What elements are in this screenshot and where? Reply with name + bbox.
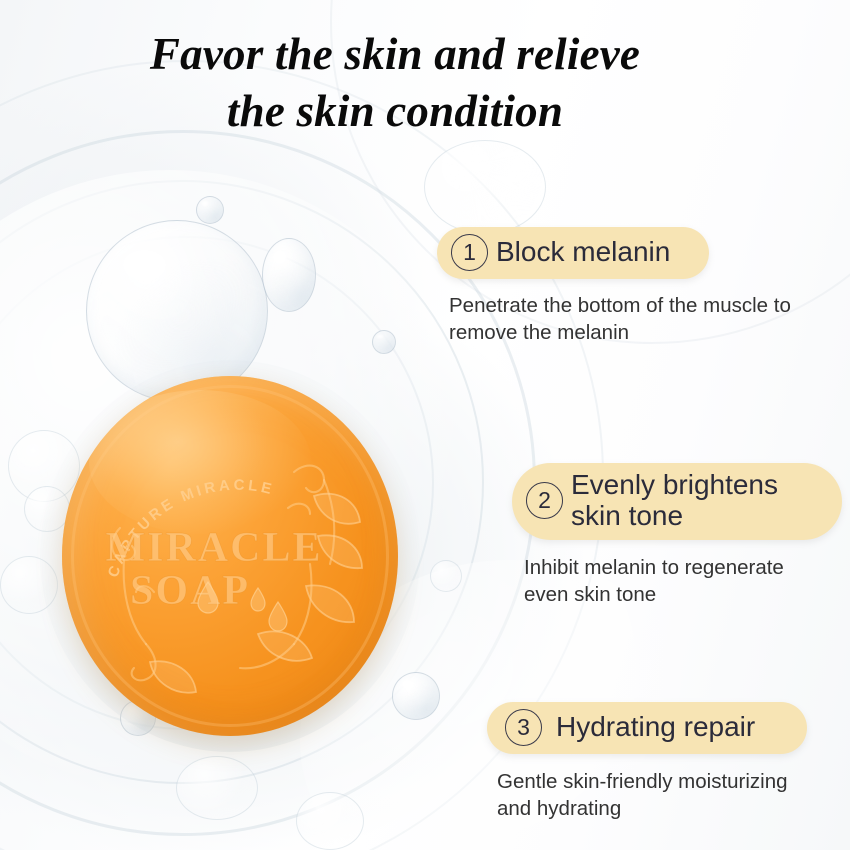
soap-brand-line-1: MIRACLE (105, 525, 322, 571)
soap-body: CAPTURE MIRACLE MIRACLE SOAP (62, 376, 398, 736)
page-title: Favor the skin and relieve the skin cond… (0, 26, 790, 139)
feature-title-3: Hydrating repair (556, 712, 755, 743)
feature-number-1: 1 (451, 234, 488, 271)
feature-description-1: Penetrate the bottom of the muscle to re… (449, 292, 791, 347)
feature-block-3: 3 Hydrating repair Gentle skin-friendly … (487, 702, 807, 823)
soap-brand-line-2: SOAP (130, 568, 250, 614)
feature-description-3: Gentle skin-friendly moisturizing and hy… (497, 768, 807, 823)
soap-embossing: CAPTURE MIRACLE MIRACLE SOAP (62, 376, 398, 736)
feature-block-1: 1 Block melanin Penetrate the bottom of … (437, 227, 791, 347)
feature-badge-3[interactable]: 3 Hydrating repair (487, 702, 807, 754)
feature-number-3: 3 (505, 709, 542, 746)
feature-title-2: Evenly brightens skin tone (571, 470, 778, 532)
feature-block-2: 2 Evenly brightens skin tone Inhibit mel… (512, 463, 842, 608)
feature-badge-1[interactable]: 1 Block melanin (437, 227, 709, 279)
product-feature-poster: Favor the skin and relieve the skin cond… (0, 0, 850, 850)
feature-description-2: Inhibit melanin to regenerate even skin … (524, 554, 842, 609)
product-soap-bar: CAPTURE MIRACLE MIRACLE SOAP (62, 376, 398, 736)
feature-number-2: 2 (526, 482, 563, 519)
feature-badge-2[interactable]: 2 Evenly brightens skin tone (512, 463, 842, 540)
feature-title-1: Block melanin (496, 237, 670, 268)
